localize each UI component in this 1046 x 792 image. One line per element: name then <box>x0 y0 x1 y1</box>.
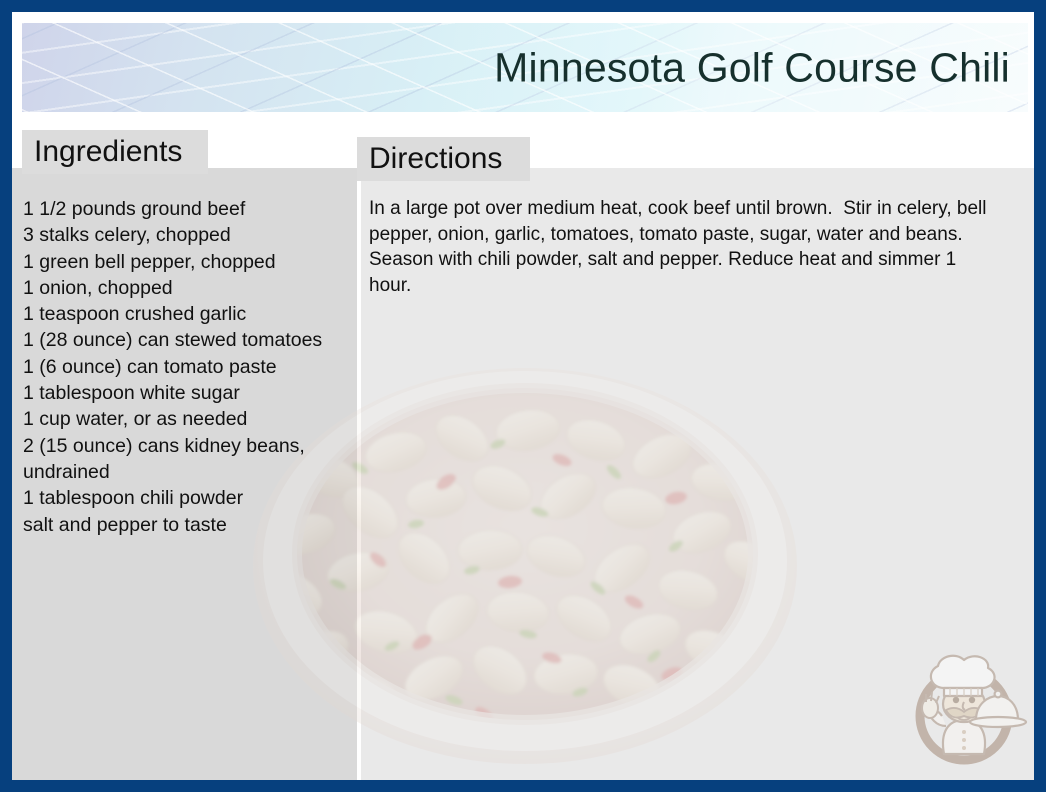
ingredient-item: 1 (6 ounce) can tomato paste <box>23 354 363 380</box>
slide-content-area: Minnesota Golf Course Chili <box>12 12 1034 780</box>
ingredient-item: 1 1/2 pounds ground beef <box>23 196 363 222</box>
recipe-slide: Minnesota Golf Course Chili <box>0 0 1046 792</box>
ingredient-item: 3 stalks celery, chopped <box>23 222 363 248</box>
ingredient-item: 1 onion, chopped <box>23 275 363 301</box>
directions-body: In a large pot over medium heat, cook be… <box>369 196 994 298</box>
ingredients-list: 1 1/2 pounds ground beef 3 stalks celery… <box>23 196 363 538</box>
ingredient-item: 1 cup water, or as needed <box>23 406 363 432</box>
ingredient-item: 1 (28 ounce) can stewed tomatoes <box>23 327 363 353</box>
ingredients-heading: Ingredients <box>34 135 182 169</box>
page-title: Minnesota Golf Course Chili <box>494 44 1010 91</box>
ingredient-item: 1 teaspoon crushed garlic <box>23 301 363 327</box>
title-banner: Minnesota Golf Course Chili <box>22 23 1028 112</box>
ingredient-item: 1 green bell pepper, chopped <box>23 249 363 275</box>
ingredient-item: 1 tablespoon white sugar <box>23 380 363 406</box>
ingredient-item: undrained <box>23 459 363 485</box>
directions-heading: Directions <box>369 142 502 176</box>
ingredients-header-tab: Ingredients <box>22 130 208 174</box>
ingredient-item: 1 tablespoon chili powder <box>23 485 363 511</box>
ingredient-item: 2 (15 ounce) cans kidney beans, <box>23 433 363 459</box>
ingredient-item: salt and pepper to taste <box>23 512 363 538</box>
directions-header-tab: Directions <box>357 137 530 181</box>
